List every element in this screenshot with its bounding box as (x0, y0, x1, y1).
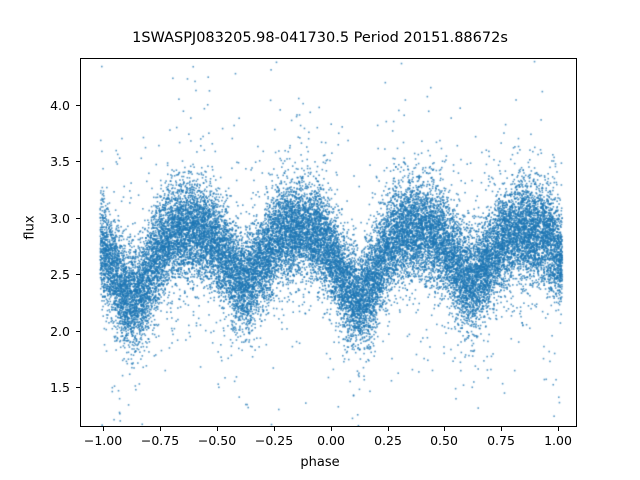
x-tick-mark (331, 427, 332, 431)
y-tick-label: 1.5 (18, 380, 70, 395)
plot-axes-frame (80, 58, 577, 427)
y-tick-mark (76, 218, 80, 219)
scatter-plot-canvas (81, 59, 576, 426)
chart-title: 1SWASPJ083205.98-041730.5 Period 20151.8… (0, 30, 640, 46)
x-tick-label: 1.00 (523, 433, 593, 448)
y-tick-label: 3.5 (18, 154, 70, 169)
y-tick-mark (76, 331, 80, 332)
y-tick-mark (76, 105, 80, 106)
figure-canvas: 1SWASPJ083205.98-041730.5 Period 20151.8… (0, 0, 640, 480)
y-tick-label: 2.5 (18, 267, 70, 282)
y-tick-mark (76, 387, 80, 388)
x-tick-mark (444, 427, 445, 431)
x-tick-mark (558, 427, 559, 431)
x-tick-mark (103, 427, 104, 431)
x-tick-mark (388, 427, 389, 431)
x-tick-mark (501, 427, 502, 431)
y-tick-mark (76, 274, 80, 275)
x-tick-mark (274, 427, 275, 431)
x-tick-mark (217, 427, 218, 431)
y-tick-mark (76, 161, 80, 162)
y-tick-label: 2.0 (18, 324, 70, 339)
y-axis-label: flux (23, 188, 38, 268)
y-tick-label: 4.0 (18, 98, 70, 113)
x-tick-mark (160, 427, 161, 431)
x-axis-label: phase (0, 455, 640, 470)
